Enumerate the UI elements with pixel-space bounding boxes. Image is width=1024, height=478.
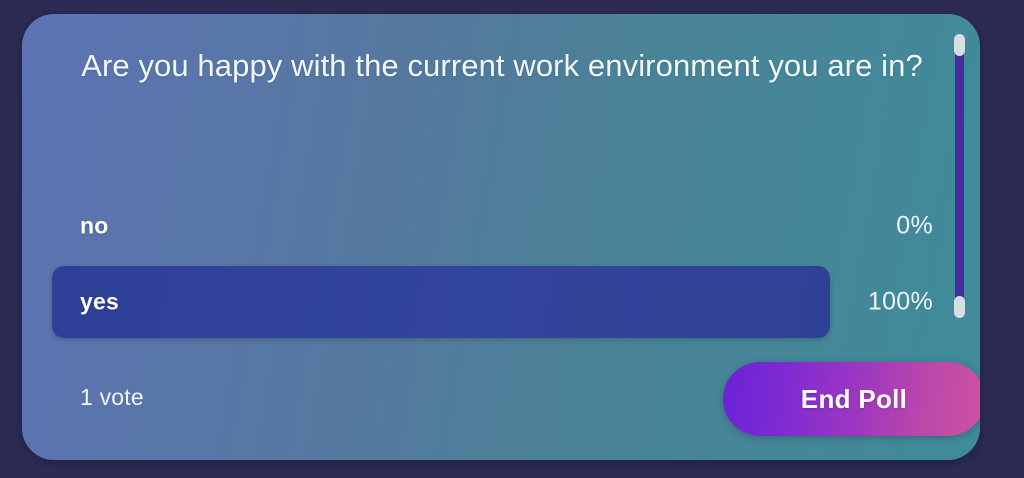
poll-option-label: no [80,213,109,240]
scrollbar-track[interactable] [955,38,964,314]
poll-option-row[interactable]: yes 100% [22,266,980,338]
poll-option-percent: 0% [896,212,933,241]
vertical-scrollbar[interactable] [954,38,965,314]
poll-card: Are you happy with the current work envi… [22,14,980,460]
vote-count-label: 1 vote [80,384,144,411]
poll-option-row[interactable]: no 0% [22,190,980,262]
poll-widget: Are you happy with the current work envi… [0,0,1024,478]
poll-option-bar [52,266,830,338]
scrollbar-thumb-bottom-cap[interactable] [954,296,965,318]
poll-option-percent: 100% [868,288,933,317]
poll-options-list: no 0% yes 100% [22,190,980,342]
poll-question: Are you happy with the current work envi… [62,42,942,90]
poll-option-label: yes [80,289,119,316]
end-poll-button[interactable]: End Poll [723,362,980,436]
scrollbar-thumb-top-cap[interactable] [954,34,965,56]
